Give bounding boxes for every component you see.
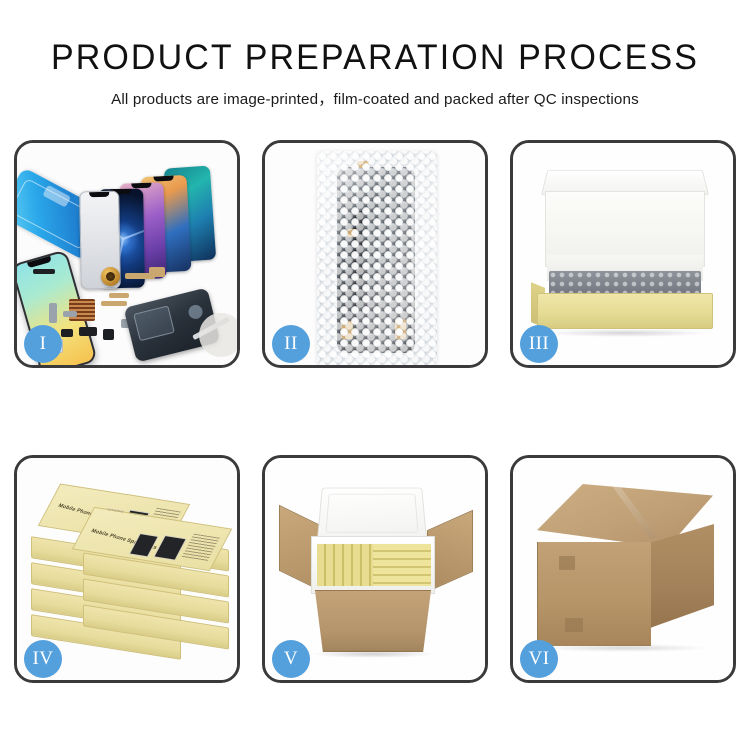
vibration-motor-part xyxy=(101,267,120,286)
carton-front-face xyxy=(537,542,651,646)
flex-cable-part xyxy=(149,267,165,277)
product-preparation-infographic: PRODUCT PREPARATION PROCESS All products… xyxy=(0,0,750,750)
antenna-strip-part xyxy=(33,269,55,274)
bubble-wrap-bag xyxy=(317,151,437,365)
step-badge-2: II xyxy=(272,325,310,363)
metal-bracket-part xyxy=(49,303,57,323)
foam-box-lid xyxy=(317,488,427,540)
process-step-panel-2[interactable]: II xyxy=(262,140,488,368)
process-step-panel-4[interactable]: Mobile Phone Spare Parts Mobile Phone Sp… xyxy=(14,455,240,683)
flex-cable-part xyxy=(101,301,127,306)
copper-shield-part xyxy=(69,299,95,321)
header: PRODUCT PREPARATION PROCESS All products… xyxy=(0,38,750,109)
carton-tape xyxy=(565,618,583,632)
process-step-panel-5[interactable]: V xyxy=(262,455,488,683)
flex-cable-part xyxy=(109,293,129,298)
step-badge-5: V xyxy=(272,640,310,678)
metal-bracket-part xyxy=(63,311,77,317)
black-chip-part xyxy=(79,327,97,336)
process-step-panel-1[interactable]: I xyxy=(14,140,240,368)
step-badge-1: I xyxy=(24,325,62,363)
retail-box-stack: Mobile Phone Spare Parts Mobile Phone Sp… xyxy=(27,476,233,670)
black-chip-part xyxy=(103,329,114,340)
process-steps-grid: I II xyxy=(14,140,736,683)
box-front-panel xyxy=(537,293,713,329)
step-badge-6: VI xyxy=(520,640,558,678)
step-badge-4: IV xyxy=(24,640,62,678)
packed-retail-boxes xyxy=(373,544,431,586)
black-chip-part xyxy=(61,329,73,337)
page-subtitle: All products are image-printed，film-coat… xyxy=(0,87,750,109)
hand xyxy=(199,313,237,357)
carton-front-panel xyxy=(307,590,439,652)
step-badge-3: III xyxy=(520,325,558,363)
page-title: PRODUCT PREPARATION PROCESS xyxy=(11,38,739,78)
carton-tape xyxy=(559,556,575,570)
process-step-panel-3[interactable]: III xyxy=(510,140,736,368)
process-step-panel-6[interactable]: VI xyxy=(510,455,736,683)
